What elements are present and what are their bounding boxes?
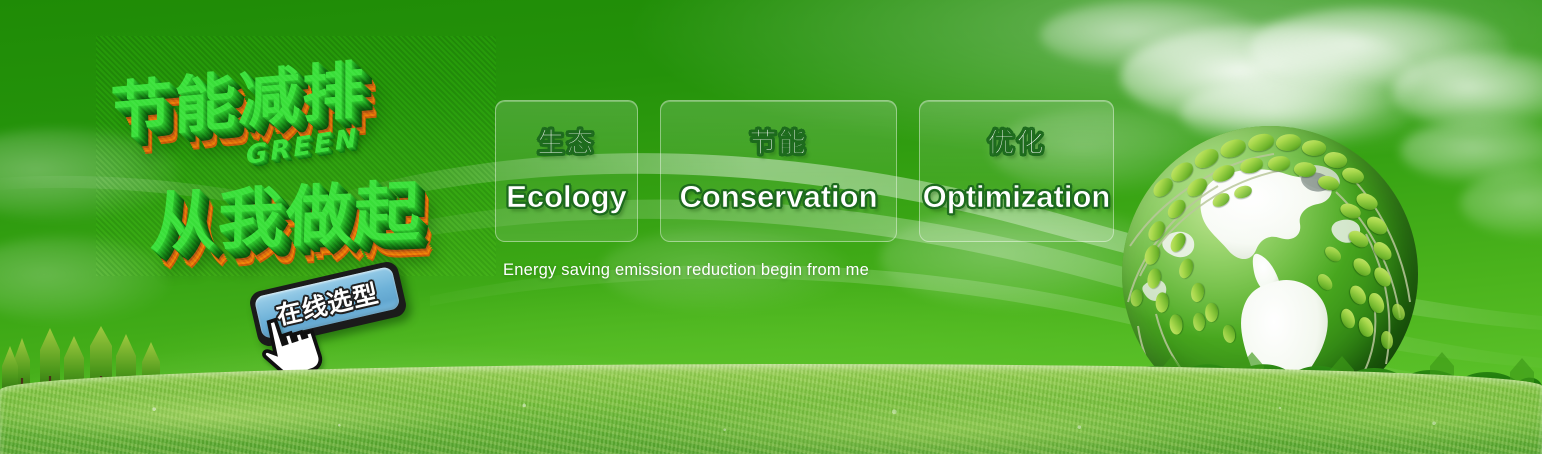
card-title-zh: 优化 <box>988 130 1046 157</box>
cloud-icon <box>0 236 170 322</box>
card-title-en: Optimization <box>923 181 1111 212</box>
card-title-en: Conservation <box>679 181 877 212</box>
cloud-icon <box>1400 118 1542 184</box>
feature-card-conservation[interactable]: 节能 Conservation <box>660 100 897 242</box>
feature-cards: 生态 Ecology 节能 Conservation 优化 Optimizati… <box>495 100 1114 242</box>
cta-label: 在线选型 <box>272 273 381 331</box>
headline-line-1: 节能减排 <box>110 39 366 151</box>
card-title-zh: 生态 <box>538 130 596 157</box>
headline-line-3: 从我做起 <box>149 158 423 266</box>
feature-card-optimization[interactable]: 优化 Optimization <box>919 100 1114 242</box>
card-title-zh: 节能 <box>750 130 808 157</box>
cloud-icon <box>1250 6 1510 90</box>
cloud-icon <box>1460 168 1542 238</box>
online-selection-button[interactable]: 在线选型 <box>248 260 409 349</box>
feature-card-ecology[interactable]: 生态 Ecology <box>495 100 638 242</box>
tagline: Energy saving emission reduction begin f… <box>503 261 869 280</box>
cloud-icon <box>0 128 180 220</box>
cloud-icon <box>1392 52 1542 130</box>
card-title-en: Ecology <box>506 181 627 212</box>
grass-field-icon <box>0 364 1542 454</box>
green-banner: 节能减排 GREEN 从我做起 生态 Ecology 节能 Conservati… <box>0 0 1542 454</box>
cloud-icon <box>1120 24 1420 128</box>
cta-area: 在线选型 <box>252 274 422 348</box>
headline-line-2: GREEN <box>245 123 360 171</box>
cloud-icon <box>1040 0 1260 70</box>
headline-weave-texture <box>96 36 496 276</box>
cta-face: 在线选型 <box>254 266 401 340</box>
headline-3d: 节能减排 GREEN 从我做起 <box>96 36 496 276</box>
